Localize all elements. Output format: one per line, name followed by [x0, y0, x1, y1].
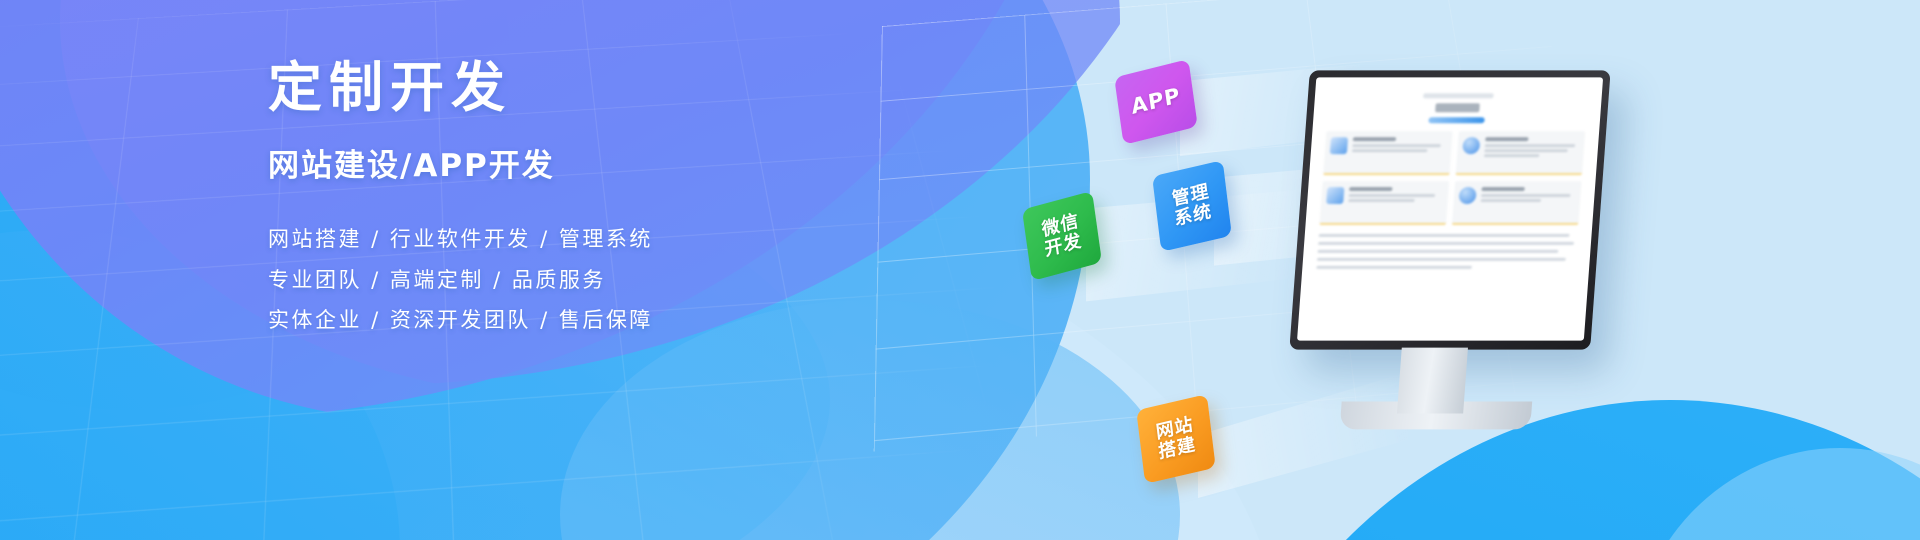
preview-card-text	[1347, 187, 1443, 217]
preview-card-icon	[1462, 137, 1480, 154]
preview-card	[1320, 181, 1450, 225]
monitor-mockup	[1289, 70, 1610, 349]
preview-card	[1323, 131, 1453, 175]
preview-card-icon	[1458, 187, 1476, 204]
feature-line: 专业团队 / 高端定制 / 品质服务	[268, 260, 788, 300]
banner-copy: 定制开发 网站建设/APP开发 网站搭建 / 行业软件开发 / 管理系统 专业团…	[268, 58, 788, 340]
preview-text-row	[1348, 199, 1414, 202]
preview-text-row	[1484, 149, 1567, 152]
preview-text-row	[1349, 194, 1436, 197]
preview-text-row	[1485, 144, 1576, 147]
service-card-mgmt[interactable]: 管理 系统	[1152, 160, 1232, 252]
monitor-stand-neck	[1397, 348, 1468, 414]
preview-card-title	[1481, 187, 1525, 191]
preview-card-grid	[1320, 131, 1586, 225]
preview-card-icon	[1326, 187, 1344, 204]
preview-card	[1456, 131, 1586, 175]
preview-underline	[1428, 117, 1485, 123]
banner-subtitle: 网站建设/APP开发	[268, 140, 788, 185]
monitor-bezel	[1289, 70, 1610, 349]
monitor-screen	[1297, 77, 1603, 340]
banner-title: 定制开发	[268, 58, 788, 118]
feature-line: 实体企业 / 资深开发团队 / 售后保障	[268, 300, 788, 340]
preview-text-row	[1318, 250, 1559, 253]
preview-card-title	[1349, 187, 1393, 191]
feature-list: 网站搭建 / 行业软件开发 / 管理系统 专业团队 / 高端定制 / 品质服务 …	[268, 219, 788, 340]
preview-text-row	[1481, 199, 1542, 202]
custom-development-banner: 定制开发 网站建设/APP开发 网站搭建 / 行业软件开发 / 管理系统 专业团…	[0, 0, 1920, 540]
preview-card-title	[1353, 137, 1397, 141]
preview-body-text	[1316, 234, 1577, 269]
preview-text-row	[1352, 149, 1428, 152]
preview-card-text	[1480, 187, 1576, 217]
preview-text-row	[1318, 242, 1574, 245]
preview-heading	[1435, 103, 1480, 112]
preview-card-text	[1483, 137, 1579, 167]
preview-text-row	[1352, 144, 1441, 147]
feature-line: 网站搭建 / 行业软件开发 / 管理系统	[268, 219, 788, 259]
preview-text-row	[1316, 266, 1471, 269]
preview-text-row	[1481, 194, 1571, 197]
preview-kicker	[1423, 93, 1494, 98]
preview-card-title	[1485, 137, 1529, 141]
website-preview	[1316, 93, 1588, 269]
preview-card-icon	[1330, 137, 1348, 154]
preview-card	[1452, 181, 1582, 225]
preview-text-row	[1319, 234, 1570, 237]
service-card-label: APP	[1130, 84, 1182, 119]
preview-text-row	[1317, 258, 1566, 261]
preview-text-row	[1484, 154, 1539, 157]
preview-card-text	[1351, 137, 1447, 167]
